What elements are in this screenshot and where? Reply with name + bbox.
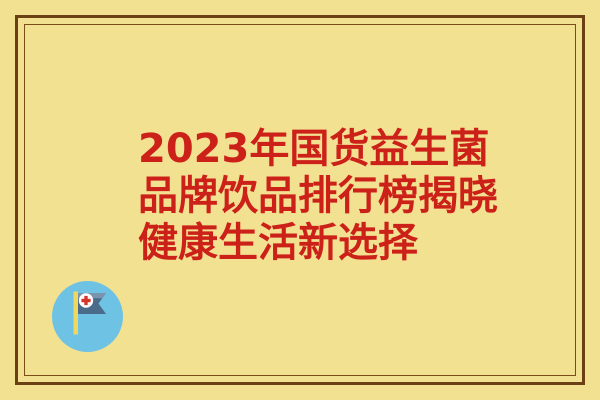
flag-emblem-cross-horizontal [81,299,90,302]
badge-circle [52,281,123,352]
poster-canvas: 2023年国货益生菌 品牌饮品排行榜揭晓 健康生活新选择 [0,0,600,400]
headline-line-2: 品牌饮品排行榜揭晓 [138,173,478,220]
health-flag-icon [52,281,123,352]
headline-line-3: 健康生活新选择 [138,220,478,267]
headline-block: 2023年国货益生菌 品牌饮品排行榜揭晓 健康生活新选择 [138,126,478,267]
headline-line-1: 2023年国货益生菌 [138,126,478,173]
flag-pole [74,292,79,335]
